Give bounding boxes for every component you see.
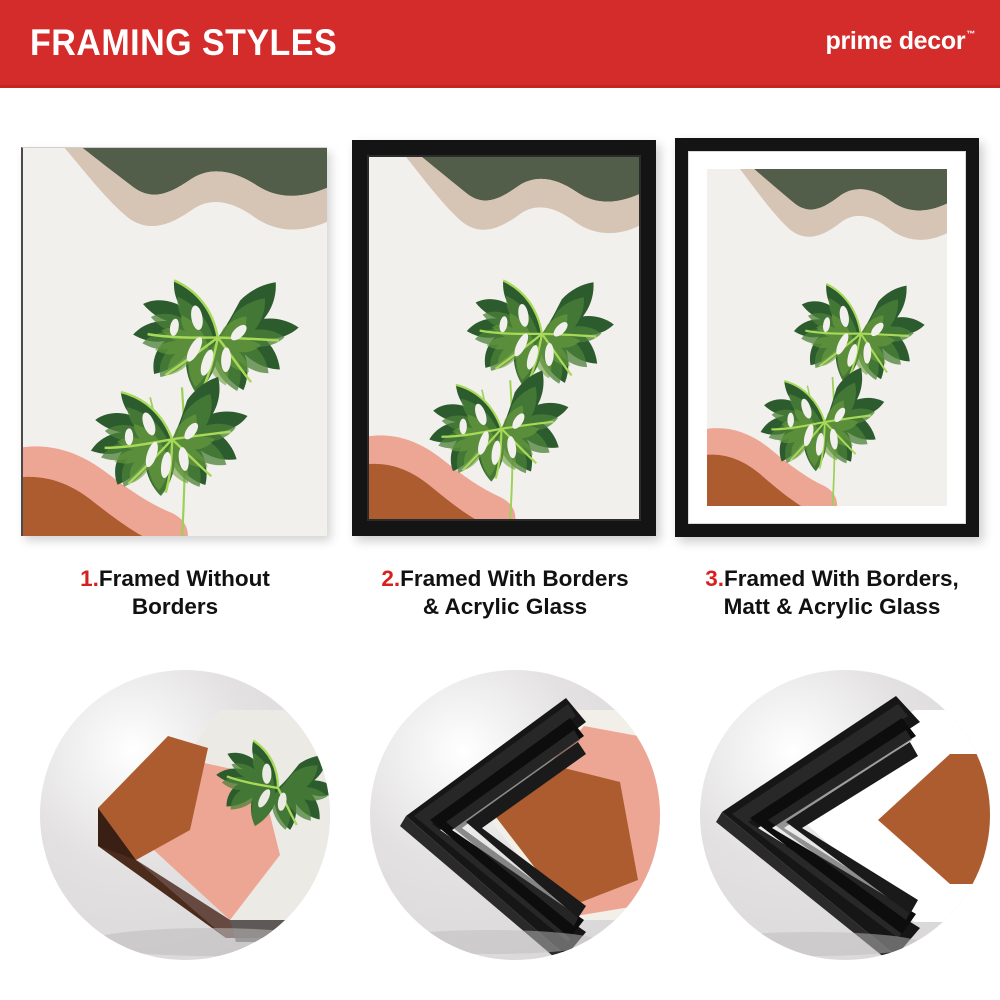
caption-line2-3: Matt & Acrylic Glass	[724, 594, 941, 619]
panel-framed-without-borders[interactable]	[21, 147, 327, 536]
detail-black-frame-matt-corner	[700, 670, 990, 960]
framing-styles-row	[0, 88, 1000, 558]
captions-row: 1.Framed Without Borders 2.Framed With B…	[0, 565, 1000, 645]
caption-line2-2: & Acrylic Glass	[423, 594, 587, 619]
caption-framed-with-borders-matt: 3.Framed With Borders, Matt & Acrylic Gl…	[672, 565, 992, 621]
header-banner: FRAMING STYLES prime decor™	[0, 0, 1000, 88]
caption-number-2: 2.	[381, 566, 400, 591]
detail-circles-row	[0, 665, 1000, 975]
caption-framed-with-borders: 2.Framed With Borders & Acrylic Glass	[345, 565, 665, 621]
brand-name: prime decor	[825, 27, 965, 55]
caption-line1-3: Framed With Borders,	[724, 566, 959, 591]
detail-black-frame-corner	[370, 670, 660, 960]
panel-framed-with-borders[interactable]	[352, 140, 656, 536]
frame-opening-2	[367, 155, 641, 521]
trademark-symbol: ™	[966, 29, 975, 39]
infographic-page: FRAMING STYLES prime decor™	[0, 0, 1000, 1000]
artwork-monstera-2	[369, 157, 639, 519]
panel-framed-with-borders-matt[interactable]	[675, 138, 979, 537]
caption-number-3: 3.	[705, 566, 724, 591]
caption-framed-without-borders: 1.Framed Without Borders	[20, 565, 330, 621]
matt-board	[688, 151, 966, 524]
caption-line2-1: Borders	[132, 594, 218, 619]
brand-logo: prime decor™	[825, 27, 974, 56]
caption-number-1: 1.	[80, 566, 99, 591]
artwork-monstera-3	[707, 169, 947, 506]
caption-line1-2: Framed With Borders	[400, 566, 629, 591]
frame-opening-3	[707, 169, 947, 506]
detail-canvas-edge-wrap	[40, 670, 330, 960]
caption-line1-1: Framed Without	[99, 566, 270, 591]
artwork-monstera-1	[23, 148, 327, 536]
page-title: FRAMING STYLES	[30, 22, 337, 64]
